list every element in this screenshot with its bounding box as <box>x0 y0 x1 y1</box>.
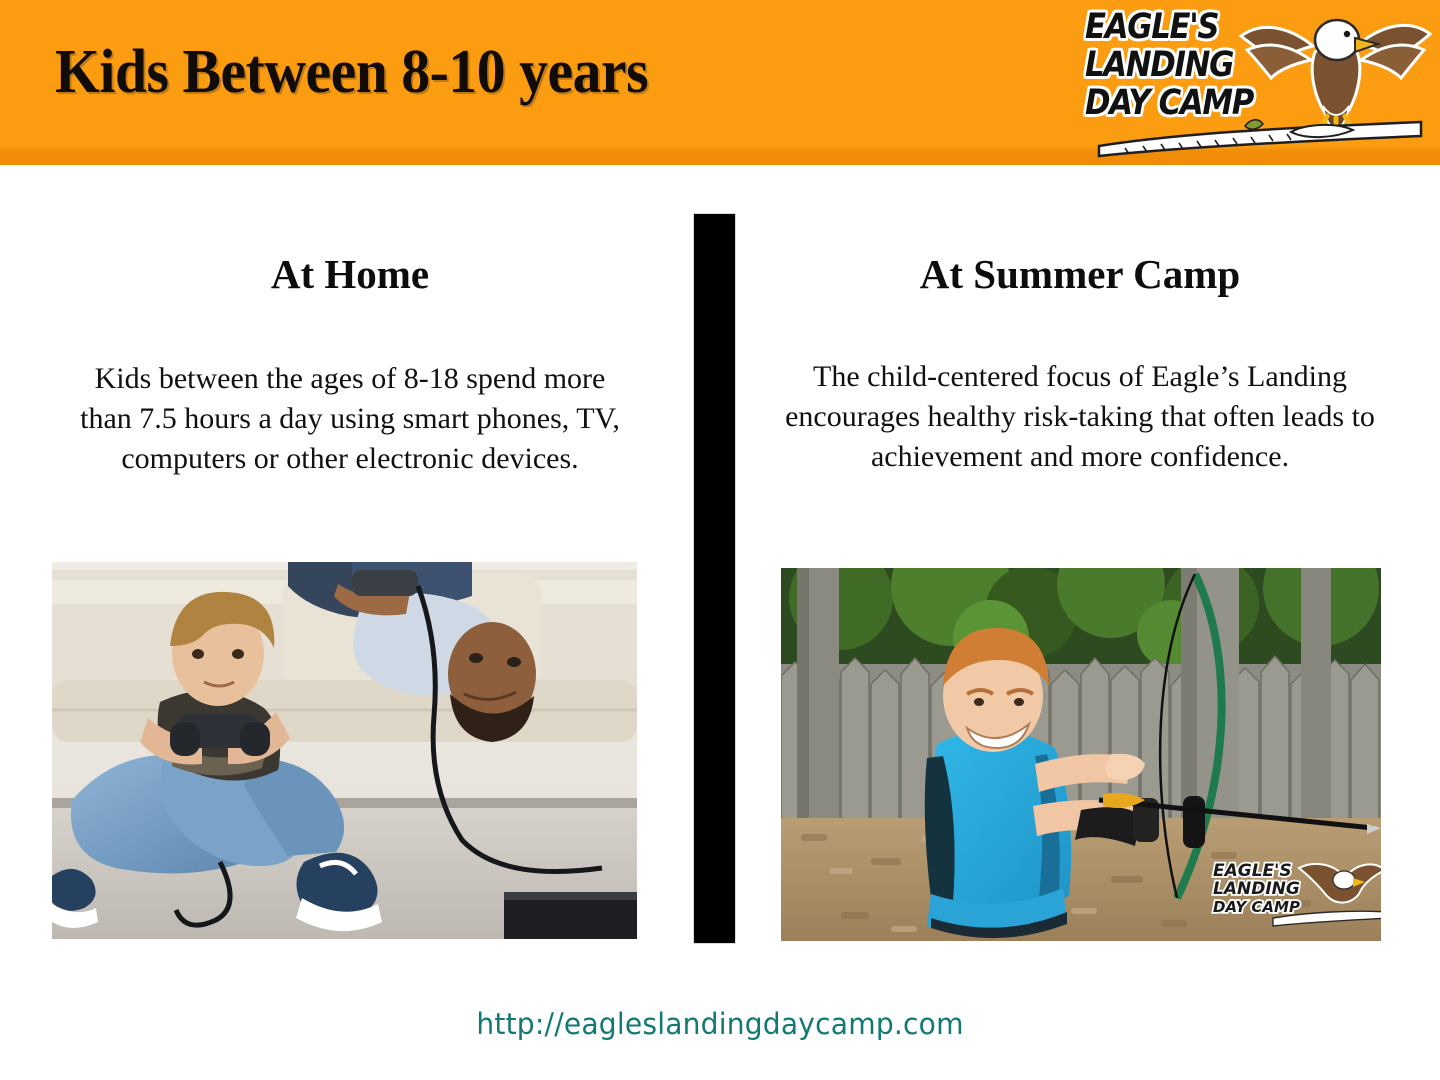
column-divider <box>694 214 735 943</box>
photo-boy-archery-at-camp: EAGLE'S LANDING DAY CAMP <box>781 568 1381 941</box>
logo-wordmark: EAGLE'S LANDING DAY CAMP <box>1085 8 1261 122</box>
eagles-landing-logo: EAGLE'S LANDING DAY CAMP <box>1083 2 1435 160</box>
column-body-at-home: Kids between the ages of 8-18 spend more… <box>20 298 680 479</box>
column-heading-at-summer-camp: At Summer Camp <box>750 250 1410 298</box>
column-at-home: At Home Kids between the ages of 8-18 sp… <box>20 250 680 479</box>
page-title: Kids Between 8-10 years <box>55 37 648 107</box>
logo-line-3: DAY CAMP <box>1085 84 1261 122</box>
svg-text:EAGLE'S: EAGLE'S <box>1213 861 1292 881</box>
photo-kids-gaming-illustration <box>52 562 637 939</box>
svg-text:DAY CAMP: DAY CAMP <box>1213 898 1300 916</box>
column-heading-at-home: At Home <box>20 250 680 298</box>
column-at-summer-camp: At Summer Camp The child-centered focus … <box>750 250 1410 477</box>
photo-kids-gaming-at-home <box>52 562 637 939</box>
logo-line-1: EAGLE'S <box>1085 8 1261 46</box>
logo-line-2: LANDING <box>1085 46 1261 84</box>
column-body-at-summer-camp: The child-centered focus of Eagle’s Land… <box>750 298 1410 477</box>
photo-archery-illustration: EAGLE'S LANDING DAY CAMP <box>781 568 1381 941</box>
footer-website-url[interactable]: http://eagleslandingdaycamp.com <box>22 1006 1419 1042</box>
svg-text:LANDING: LANDING <box>1213 879 1300 899</box>
